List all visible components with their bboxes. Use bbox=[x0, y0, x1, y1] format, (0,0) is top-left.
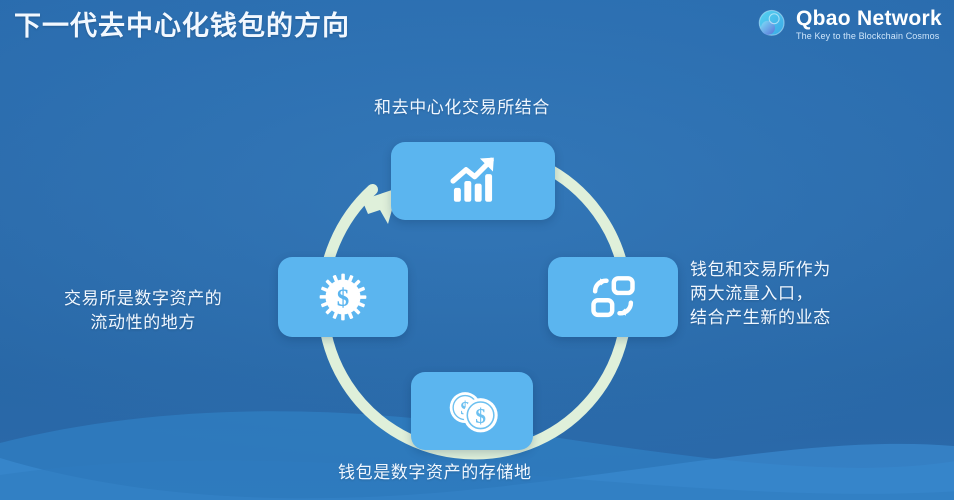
logo-tagline: The Key to the Blockchain Cosmos bbox=[796, 32, 942, 41]
dollar-coins-icon: $ $ bbox=[442, 387, 502, 435]
cycle-node-bottom[interactable]: $ $ bbox=[411, 372, 533, 450]
page-title: 下一代去中心化钱包的方向 bbox=[14, 10, 350, 42]
slide-canvas: 下一代去中心化钱包的方向 bbox=[0, 0, 954, 500]
dollar-badge-icon: $ bbox=[318, 272, 368, 322]
logo-text-block: Qbao Network The Key to the Blockchain C… bbox=[796, 8, 942, 41]
qbao-circles-icon bbox=[756, 8, 789, 41]
brand-logo: Qbao Network The Key to the Blockchain C… bbox=[756, 8, 942, 41]
exchange-swap-icon bbox=[587, 273, 639, 321]
caption-top: 和去中心化交易所结合 bbox=[374, 96, 550, 120]
cycle-node-top[interactable] bbox=[391, 142, 555, 220]
slide-header: 下一代去中心化钱包的方向 bbox=[0, 0, 954, 62]
logo-name: Qbao Network bbox=[796, 8, 942, 29]
caption-left: 交易所是数字资产的 流动性的地方 bbox=[64, 287, 222, 335]
caption-bottom: 钱包是数字资产的存储地 bbox=[338, 461, 532, 485]
svg-text:$: $ bbox=[475, 404, 486, 428]
bar-chart-growth-icon bbox=[445, 155, 501, 207]
svg-text:$: $ bbox=[337, 285, 350, 312]
cycle-node-right[interactable] bbox=[548, 257, 678, 337]
caption-right: 钱包和交易所作为 两大流量入口， 结合产生新的业态 bbox=[690, 258, 831, 330]
cycle-node-left[interactable]: $ bbox=[278, 257, 408, 337]
